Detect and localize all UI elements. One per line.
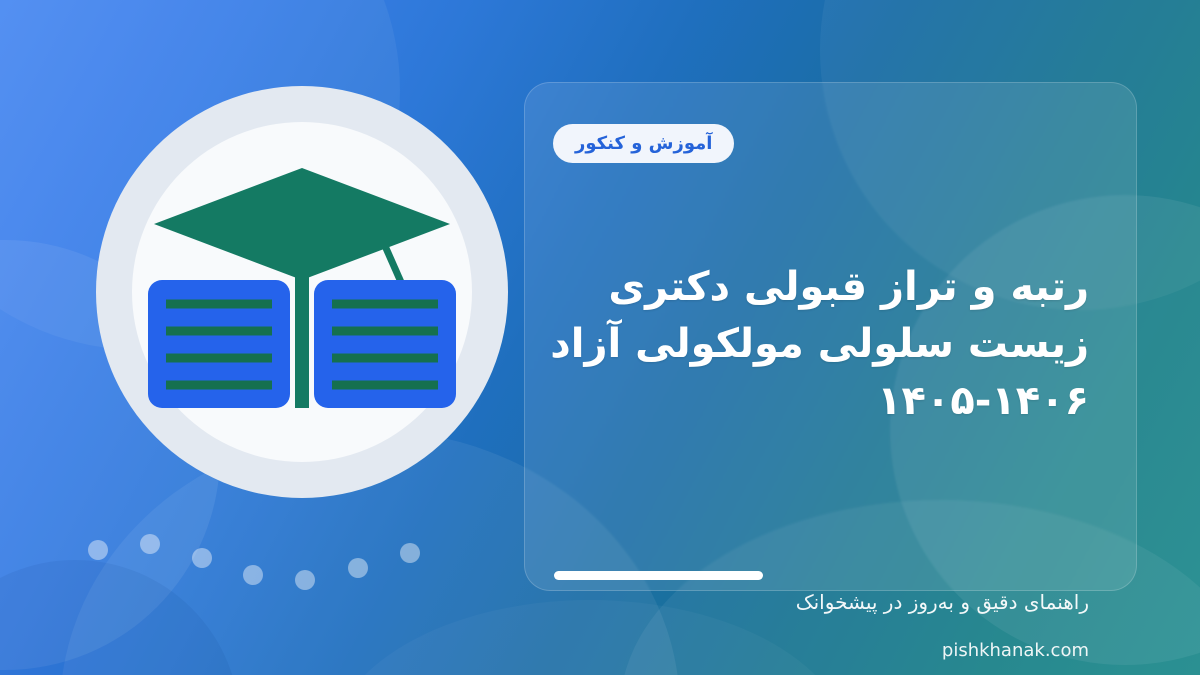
banner-canvas: آموزش و کنکور رتبه و تراز قبولی دکتری زی… bbox=[0, 0, 1200, 675]
background-blob-lower-left bbox=[0, 560, 240, 675]
site-domain: pishkhanak.com bbox=[549, 640, 1089, 661]
graduation-cap-icon bbox=[154, 168, 450, 280]
icon-medallion-inner bbox=[132, 122, 472, 462]
decorative-dot-2 bbox=[140, 534, 160, 554]
decorative-dot-3 bbox=[192, 548, 212, 568]
page-subtitle: راهنمای دقیق و به‌روز در پیشخوانک bbox=[549, 590, 1089, 614]
category-badge: آموزش و کنکور bbox=[553, 124, 734, 163]
decorative-dot-1 bbox=[88, 540, 108, 560]
category-badge-label: آموزش و کنکور bbox=[575, 133, 712, 154]
page-title-line-3: ۱۴۰۵-۱۴۰۶ bbox=[549, 373, 1089, 430]
icon-medallion bbox=[96, 86, 508, 498]
decorative-dot-4 bbox=[243, 565, 263, 585]
decorative-dot-5 bbox=[295, 570, 315, 590]
decorative-dot-6 bbox=[348, 558, 368, 578]
page-title-line-1: رتبه و تراز قبولی دکتری bbox=[549, 259, 1089, 316]
decorative-dot-7 bbox=[400, 543, 420, 563]
accent-bar bbox=[554, 571, 763, 580]
graduation-cap-open-book-icon bbox=[142, 162, 462, 422]
page-title-line-2: زیست سلولی مولکولی آزاد bbox=[549, 316, 1089, 373]
book-spine-icon bbox=[295, 268, 309, 408]
content-card: آموزش و کنکور رتبه و تراز قبولی دکتری زی… bbox=[524, 82, 1137, 591]
page-title: رتبه و تراز قبولی دکتری زیست سلولی مولکو… bbox=[549, 259, 1089, 429]
